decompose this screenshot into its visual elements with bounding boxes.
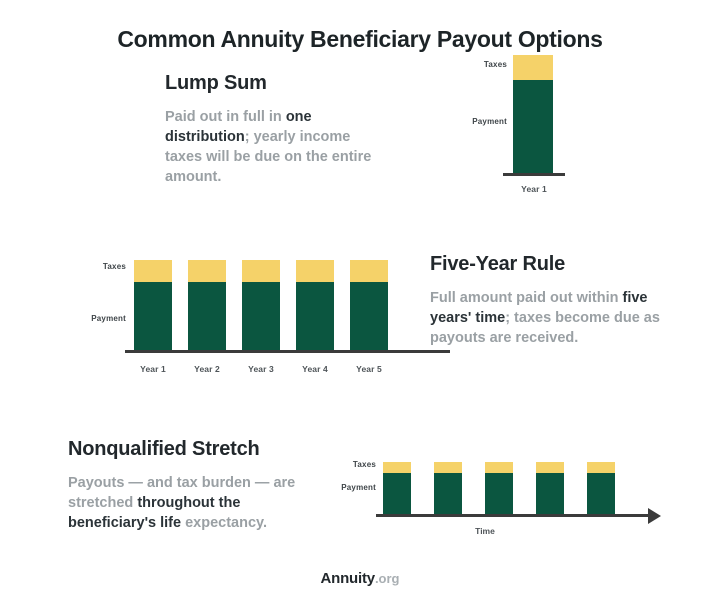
tick-label-year-1: Year 1 — [503, 184, 565, 194]
series-label-taxes: Taxes — [455, 60, 507, 69]
bar-payout-5 — [587, 462, 615, 514]
axis-baseline — [503, 173, 565, 176]
bar-payout-4 — [536, 462, 564, 514]
footer-brand-name: Annuity — [321, 570, 375, 587]
footer-brand-tld: .org — [375, 571, 400, 586]
tick-label-year-1: Year 1 — [134, 364, 172, 374]
axis-baseline — [376, 514, 653, 517]
chart-five-year-rule: Taxes Payment Year 1 Year 2 Year 3 Year … — [70, 252, 410, 382]
section-body-five-year-rule: Full amount paid out within five years' … — [430, 288, 665, 348]
bar-payout-3 — [485, 462, 513, 514]
section-heading-lump-sum: Lump Sum — [165, 72, 380, 95]
bar-segment-payment — [587, 473, 615, 514]
bar-year-1 — [134, 260, 172, 350]
section-heading-nonqualified-stretch: Nonqualified Stretch — [68, 438, 313, 461]
page-title: Common Annuity Beneficiary Payout Option… — [0, 26, 720, 53]
bar-segment-taxes — [188, 260, 226, 282]
bar-year-4 — [296, 260, 334, 350]
section-lump-sum: Lump Sum Paid out in full in one distrib… — [165, 72, 380, 187]
bar-segment-taxes — [296, 260, 334, 282]
bar-segment-payment — [296, 282, 334, 350]
bar-segment-payment — [134, 282, 172, 350]
bar-year-1 — [513, 55, 553, 173]
bars-row — [513, 55, 553, 173]
bar-segment-taxes — [350, 260, 388, 282]
series-label-payment: Payment — [330, 483, 376, 492]
bars-row — [134, 260, 388, 350]
tick-label-year-3: Year 3 — [242, 364, 280, 374]
bar-segment-taxes — [383, 462, 411, 473]
tick-label-year-2: Year 2 — [188, 364, 226, 374]
section-body-lump-sum: Paid out in full in one distribution; ye… — [165, 107, 380, 187]
series-label-payment: Payment — [70, 314, 126, 323]
axis-arrow-icon — [648, 508, 661, 524]
bar-year-2 — [188, 260, 226, 350]
chart-lump-sum: Taxes Payment Year 1 — [455, 55, 585, 200]
section-body-nonqualified-stretch: Payouts — and tax burden — are stretched… — [68, 473, 313, 533]
bar-segment-payment — [536, 473, 564, 514]
bar-segment-payment — [383, 473, 411, 514]
bar-segment-payment — [188, 282, 226, 350]
bar-segment-payment — [485, 473, 513, 514]
bar-segment-payment — [242, 282, 280, 350]
bar-segment-taxes — [513, 55, 553, 80]
bar-payout-1 — [383, 462, 411, 514]
bar-segment-taxes — [587, 462, 615, 473]
tick-label-year-4: Year 4 — [296, 364, 334, 374]
bar-segment-payment — [434, 473, 462, 514]
axis-baseline — [125, 350, 450, 353]
series-label-taxes: Taxes — [330, 460, 376, 469]
bar-segment-taxes — [485, 462, 513, 473]
tick-label-year-5: Year 5 — [350, 364, 388, 374]
bar-segment-taxes — [536, 462, 564, 473]
section-nonqualified-stretch: Nonqualified Stretch Payouts — and tax b… — [68, 438, 313, 533]
bar-segment-taxes — [434, 462, 462, 473]
bar-year-5 — [350, 260, 388, 350]
axis-caption-time: Time — [440, 526, 530, 536]
bar-segment-taxes — [242, 260, 280, 282]
bar-segment-payment — [350, 282, 388, 350]
bar-payout-2 — [434, 462, 462, 514]
bar-segment-taxes — [134, 260, 172, 282]
bar-segment-payment — [513, 80, 553, 173]
series-label-payment: Payment — [455, 117, 507, 126]
chart-nonqualified-stretch: Taxes Payment Time — [330, 452, 665, 542]
series-label-taxes: Taxes — [70, 262, 126, 271]
section-heading-five-year-rule: Five-Year Rule — [430, 253, 665, 276]
footer-logo[interactable]: Annuity.org — [0, 570, 720, 587]
bars-row — [383, 462, 615, 514]
section-five-year-rule: Five-Year Rule Full amount paid out with… — [430, 253, 665, 348]
bar-year-3 — [242, 260, 280, 350]
